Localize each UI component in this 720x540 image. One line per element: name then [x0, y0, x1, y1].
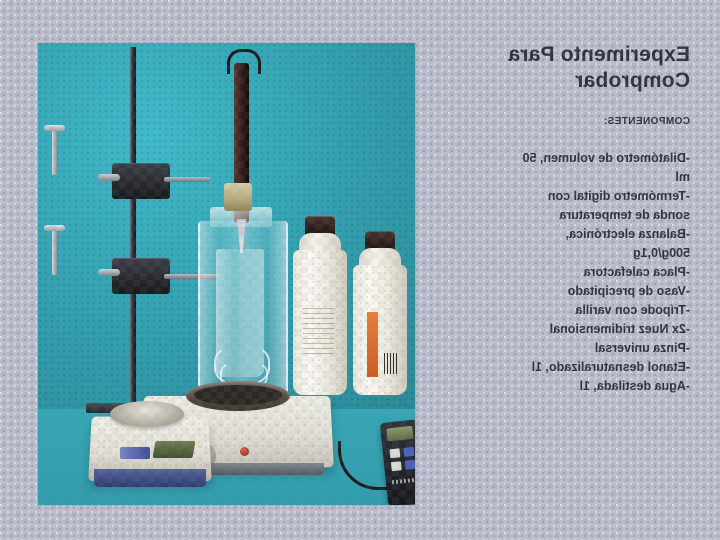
bottle-label-text-left [303, 308, 334, 357]
heating-plate-ring-inner [194, 385, 282, 405]
list-item: sonda de temperatura [420, 206, 690, 225]
electronic-balance-base [94, 469, 206, 487]
list-item: -Trípode con varilla [420, 301, 690, 320]
dilatometer-ground-joint [224, 183, 252, 211]
slide-title: Experimento Para Comprobar [420, 38, 692, 94]
stand-cap-lower [44, 225, 65, 231]
stand-pin-lower [52, 229, 57, 275]
list-item: -Placa calefactora [420, 263, 690, 282]
list-item: -Dilatómetro de volumen, 50 [420, 149, 690, 168]
list-item: -Termómetro digital con [420, 187, 690, 206]
balance-keypad [120, 447, 150, 459]
list-item: -2x Nuez tridimensional [420, 320, 690, 339]
clamp-screw-upper [98, 174, 120, 181]
slide-text-column: Experimento Para Comprobar COMPONENTES: … [420, 38, 692, 514]
slide-canvas: Experimento Para Comprobar COMPONENTES: … [0, 0, 720, 540]
thermometer-button-4 [405, 460, 415, 470]
components-list: -Dilatómetro de volumen, 50 ml -Termómet… [420, 149, 692, 396]
bottle-body-right [353, 265, 407, 395]
thermometer-display [386, 426, 413, 442]
clamp-arm-upper [164, 177, 210, 182]
slide-title-line-1: Experimento Para [422, 42, 690, 68]
thermometer-button-1 [389, 448, 400, 458]
lab-setup-photo [38, 43, 415, 505]
bottle-body-left [293, 250, 347, 395]
list-item: -Balanza electrónica, [420, 225, 690, 244]
retort-stand-rod [130, 47, 136, 443]
balance-display [153, 441, 196, 458]
clamp-screw-lower [98, 269, 120, 276]
list-item: -Agua destilada, 1l [420, 377, 690, 396]
heating-plate-indicator-light [240, 447, 249, 456]
reagent-bottle-left [293, 250, 347, 395]
thermometer-button-2 [403, 447, 414, 457]
reagent-bottle-right [353, 265, 407, 395]
universal-clamp-lower [112, 258, 170, 294]
list-item: -Vaso de precipitado [420, 282, 690, 301]
stand-pin-upper [52, 129, 57, 175]
list-item: -Etanol desnaturalizado, 1l [420, 358, 690, 377]
bottle-barcode [384, 353, 398, 374]
bottle-label-orange [367, 312, 378, 377]
thermometer-brand-mark [392, 478, 415, 485]
balance-weighing-pan [110, 401, 184, 427]
slide-title-line-2: Comprobar [422, 68, 690, 94]
list-item: ml [420, 168, 690, 187]
thermometer-button-3 [391, 461, 402, 471]
components-heading: COMPONENTES: [420, 116, 692, 127]
list-item: 500g/0,1g [420, 244, 690, 263]
universal-clamp-upper [112, 163, 170, 199]
stand-cap-upper [44, 125, 65, 131]
list-item: -Pinza universal [420, 339, 690, 358]
